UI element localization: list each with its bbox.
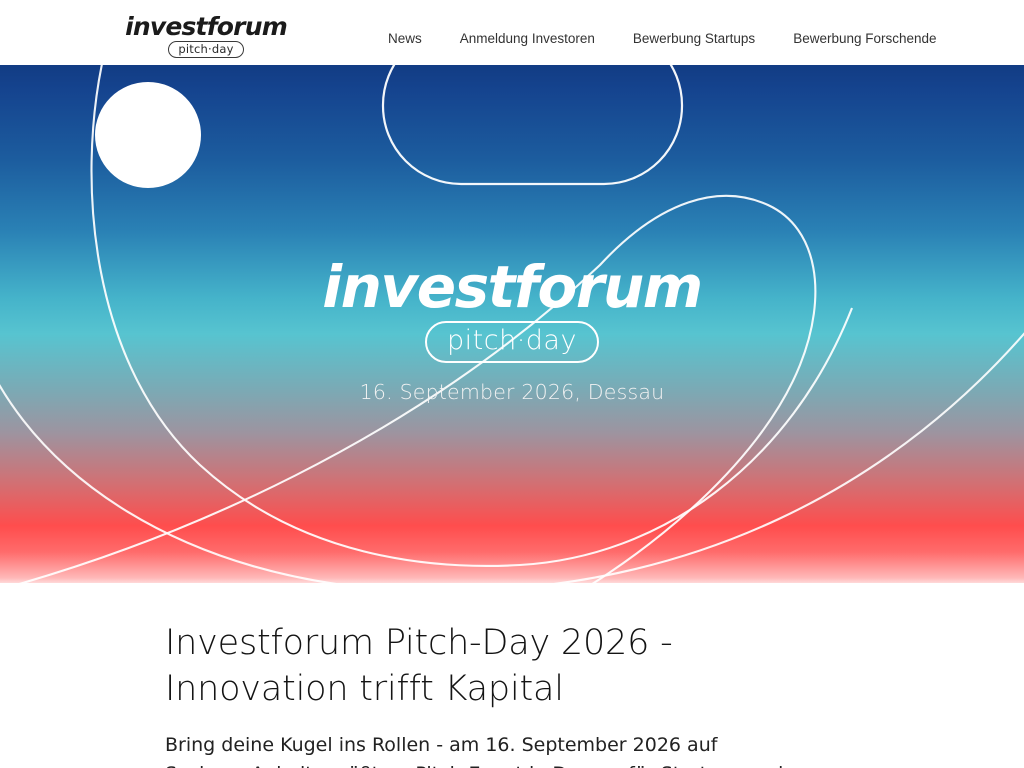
brand-tagline-pill: pitch·day bbox=[168, 41, 243, 58]
nav-item-bewerbung-startups[interactable]: Bewerbung Startups bbox=[633, 30, 755, 48]
stadium-outline-icon bbox=[383, 65, 682, 184]
filled-circle-icon bbox=[95, 82, 201, 188]
main-content: Investforum Pitch-Day 2026 - Innovation … bbox=[0, 583, 1024, 768]
hero-banner: investforum pitch·day 16. September 2026… bbox=[0, 65, 1024, 583]
content-container: Investforum Pitch-Day 2026 - Innovation … bbox=[165, 583, 829, 768]
page-title: Investforum Pitch-Day 2026 - Innovation … bbox=[165, 620, 765, 712]
nav-item-anmeldung-investoren[interactable]: Anmeldung Investoren bbox=[460, 30, 595, 48]
nav-item-bewerbung-forschende[interactable]: Bewerbung Forschende bbox=[793, 30, 936, 48]
loop-curve-right-icon bbox=[0, 196, 815, 583]
nav-item-news[interactable]: News bbox=[388, 30, 422, 48]
page-root: investforum pitch·day News Anmeldung Inv… bbox=[0, 0, 1024, 768]
site-header: investforum pitch·day News Anmeldung Inv… bbox=[0, 0, 1024, 65]
page-intro-paragraph: Bring deine Kugel ins Rollen - am 16. Se… bbox=[165, 731, 805, 768]
bowl-curve-inner-icon bbox=[91, 65, 852, 566]
brand-logo-link[interactable]: investforum pitch·day bbox=[139, 14, 273, 54]
main-nav: News Anmeldung Investoren Bewerbung Star… bbox=[388, 30, 937, 48]
brand-wordmark: investforum bbox=[125, 14, 287, 40]
bowl-curve-outer-icon bbox=[0, 315, 1024, 583]
hero-decorative-shapes bbox=[0, 65, 1024, 583]
